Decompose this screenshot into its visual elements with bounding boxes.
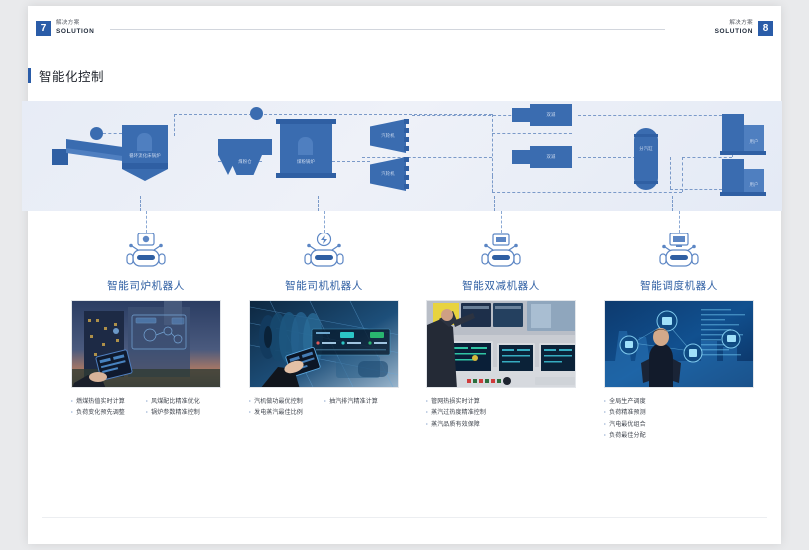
card-2-bullets: 汽机做功最优控制 抽汽排汽精准计算 发电蒸汽最佳比例 bbox=[249, 397, 399, 420]
flow-line bbox=[362, 157, 492, 158]
card-3-bullets: 管网热损实时计算 蒸汽过热度精准控制 蒸汽品质有效保障 bbox=[426, 397, 576, 431]
flow-line bbox=[578, 115, 732, 116]
node-coal-boiler-top bbox=[276, 119, 336, 124]
process-flow-diagram: 循环流化床锅炉 煤粉仓 煤粉锅炉 汽轮机 汽轮机 双减 bbox=[22, 101, 782, 211]
card-4-bullets: 全局生产调度 负荷精准预测 汽电最优组合 负荷最佳分配 bbox=[604, 397, 754, 443]
bullet-item: 负荷变化预先调整 bbox=[71, 408, 146, 419]
node-label-turbine-2: 汽轮机 bbox=[372, 171, 404, 176]
card-1-bullets: 燃煤热值实时计算 风煤配比精准优化 负荷变化预先调整 锅炉参数精准控制 bbox=[71, 397, 221, 420]
bullet-item: 锅炉参数精准控制 bbox=[146, 408, 221, 419]
card-4-photo[interactable] bbox=[604, 300, 754, 388]
node-label-turbine-1: 汽轮机 bbox=[372, 133, 404, 138]
robot-label: 智能司炉机器人 bbox=[71, 278, 221, 293]
flow-line bbox=[492, 114, 493, 176]
manager-digital-dashboard-image bbox=[605, 301, 754, 388]
node-label-steam-header: 分汽缸 bbox=[636, 146, 656, 152]
flow-line bbox=[140, 196, 141, 211]
power-plant-digital-overlay-image bbox=[72, 301, 221, 388]
card-2: 汽机做功最优控制 抽汽排汽精准计算 发电蒸汽最佳比例 bbox=[249, 300, 399, 420]
flow-line bbox=[682, 157, 732, 158]
card-4: 全局生产调度 负荷精准预测 汽电最优组合 负荷最佳分配 bbox=[604, 300, 754, 443]
robot-label: 智能司机机器人 bbox=[249, 278, 399, 293]
sensor-icon bbox=[90, 127, 103, 140]
node-user-1-annex bbox=[744, 125, 764, 151]
node-steam-header-band bbox=[634, 134, 658, 137]
bullet-item: 汽机做功最优控制 bbox=[249, 397, 324, 408]
robot-item-2[interactable]: 智能司机机器人 bbox=[249, 211, 399, 293]
robot-icon bbox=[124, 233, 168, 269]
header-right-brand: 解决方案 SOLUTION 8 bbox=[715, 20, 773, 37]
robot-connector-line bbox=[501, 211, 502, 233]
flow-line bbox=[103, 133, 122, 134]
robot-item-3[interactable]: 智能双减机器人 bbox=[426, 211, 576, 293]
node-coal-boiler-base bbox=[276, 173, 336, 178]
flow-line bbox=[494, 196, 495, 211]
footer-divider bbox=[42, 517, 767, 518]
header-right-text: 解决方案 SOLUTION bbox=[715, 20, 753, 37]
flow-line bbox=[670, 157, 671, 189]
robot-icon bbox=[479, 233, 523, 269]
robot-connector-line bbox=[324, 211, 325, 233]
robot-label: 智能双减机器人 bbox=[426, 278, 576, 293]
node-label-coal-boiler: 煤粉锅炉 bbox=[280, 159, 332, 164]
bullet-item: 管网热损实时计算 bbox=[426, 397, 576, 408]
header-left-text: 解决方案 SOLUTION bbox=[56, 20, 94, 37]
node-circulating-boiler-door bbox=[137, 133, 152, 151]
robot-icon bbox=[302, 233, 346, 269]
node-turbine-1-fin bbox=[404, 146, 409, 151]
bullet-item: 燃煤热值实时计算 bbox=[71, 397, 146, 408]
node-label-user-1: 用户 bbox=[744, 139, 764, 144]
flow-line bbox=[672, 196, 673, 211]
node-coal-boiler-door bbox=[298, 137, 313, 155]
sensor-icon bbox=[250, 107, 263, 120]
node-user-1-tower bbox=[722, 114, 744, 151]
card-1: 燃煤热值实时计算 风煤配比精准优化 负荷变化预先调整 锅炉参数精准控制 bbox=[71, 300, 221, 420]
node-label-circulating-boiler: 循环流化床锅炉 bbox=[122, 153, 168, 158]
card-3-photo[interactable] bbox=[426, 300, 576, 388]
section-title-text: 智能化控制 bbox=[39, 66, 104, 85]
slide-header: 7 解决方案 SOLUTION 解决方案 SOLUTION 8 bbox=[28, 6, 781, 48]
card-1-photo[interactable] bbox=[71, 300, 221, 388]
robot-item-1[interactable]: 智能司炉机器人 bbox=[71, 211, 221, 293]
node-user-2-tower bbox=[722, 159, 744, 192]
flow-line bbox=[492, 133, 572, 134]
header-left-en: SOLUTION bbox=[56, 28, 94, 37]
node-label-reducer-2: 双减 bbox=[530, 154, 572, 159]
header-right-en: SOLUTION bbox=[715, 28, 753, 37]
card-3: 管网热损实时计算 蒸汽过热度精准控制 蒸汽品质有效保障 bbox=[426, 300, 576, 431]
bullet-item: 蒸汽过热度精准控制 bbox=[426, 408, 576, 419]
node-turbine-1-fin bbox=[404, 119, 409, 124]
header-divider bbox=[110, 29, 665, 30]
flow-line bbox=[174, 114, 175, 136]
node-turbine-2-fin bbox=[404, 157, 409, 162]
flow-line bbox=[318, 196, 319, 211]
flow-line bbox=[670, 189, 722, 190]
robot-label: 智能调度机器人 bbox=[604, 278, 754, 293]
bullet-item: 发电蒸汽最佳比例 bbox=[249, 408, 399, 419]
robot-item-4[interactable]: 智能调度机器人 bbox=[604, 211, 754, 293]
flow-line bbox=[492, 192, 682, 193]
slide-canvas: 7 解决方案 SOLUTION 解决方案 SOLUTION 8 智能化控制 bbox=[28, 6, 781, 544]
card-2-photo[interactable] bbox=[249, 300, 399, 388]
section-title: 智能化控制 bbox=[28, 66, 104, 85]
header-right-cn: 解决方案 bbox=[715, 20, 753, 28]
robot-connector-line bbox=[146, 211, 147, 233]
bullet-item: 汽电最优组合 bbox=[604, 420, 754, 431]
node-user-2-base bbox=[720, 192, 766, 196]
bullet-item: 负荷精准预测 bbox=[604, 408, 754, 419]
robot-row: 智能司炉机器人 智能司机机器人 bbox=[28, 211, 781, 286]
node-label-user-2: 用户 bbox=[744, 182, 764, 187]
control-room-operator-image bbox=[427, 301, 576, 388]
header-left-brand: 7 解决方案 SOLUTION bbox=[36, 20, 94, 37]
node-user-1-base bbox=[720, 151, 766, 155]
card-row: 燃煤热值实时计算 风煤配比精准优化 负荷变化预先调整 锅炉参数精准控制 bbox=[28, 300, 781, 450]
header-right-number: 8 bbox=[758, 21, 773, 36]
bullet-item: 风煤配比精准优化 bbox=[146, 397, 221, 408]
node-turbine-2-fin bbox=[404, 175, 409, 180]
node-turbine-1-fin bbox=[404, 128, 409, 133]
node-turbine-2-fin bbox=[404, 184, 409, 189]
node-label-coal-bin: 煤粉仓 bbox=[218, 159, 272, 164]
bullet-item: 负荷最佳分配 bbox=[604, 431, 754, 442]
node-reducer-2-inlet bbox=[512, 150, 530, 164]
node-reducer-1-inlet bbox=[512, 108, 530, 122]
node-turbine-2-fin bbox=[404, 166, 409, 171]
flow-line bbox=[332, 161, 370, 162]
hud-panel bbox=[312, 329, 390, 355]
bullet-item: 蒸汽品质有效保障 bbox=[426, 420, 576, 431]
bullet-item: 全局生产调度 bbox=[604, 397, 754, 408]
robot-connector-line bbox=[679, 211, 680, 233]
header-left-number: 7 bbox=[36, 21, 51, 36]
node-label-reducer-1: 双减 bbox=[530, 112, 572, 117]
node-user-2-annex bbox=[744, 169, 764, 192]
flow-line bbox=[492, 176, 493, 192]
node-coal-bin-body bbox=[218, 139, 272, 155]
section-title-accent-bar bbox=[28, 68, 31, 83]
header-left-cn: 解决方案 bbox=[56, 20, 94, 28]
node-circulating-boiler-hopper bbox=[122, 169, 168, 181]
node-steam-header-band bbox=[634, 181, 658, 184]
bullet-item: 抽汽排汽精准计算 bbox=[324, 397, 399, 408]
turbine-tablet-control-image bbox=[250, 301, 399, 388]
robot-icon bbox=[657, 233, 701, 269]
flow-line bbox=[682, 157, 683, 192]
node-turbine-1-fin bbox=[404, 137, 409, 142]
